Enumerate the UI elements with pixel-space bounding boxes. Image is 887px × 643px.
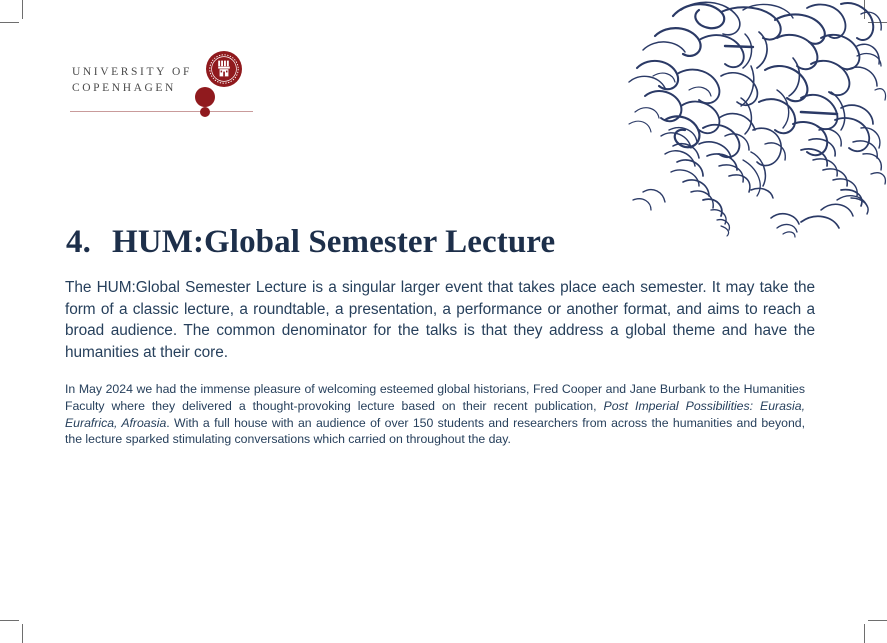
crop-mark-top-left	[0, 0, 70, 70]
university-seal-icon	[205, 50, 243, 88]
logo-accent-dot-large	[195, 87, 215, 107]
section-title-text: HUM:Global Semester Lecture	[112, 224, 555, 260]
page-title: 4.HUM:Global Semester Lecture	[66, 222, 555, 262]
lead-paragraph: The HUM:Global Semester Lecture is a sin…	[65, 277, 815, 363]
logo-wordmark-line1: UNIVERSITY OF	[72, 66, 192, 78]
crop-mark-horizontal-line	[0, 22, 19, 23]
section-number: 4.	[66, 222, 112, 262]
logo-accent-dot-small	[200, 107, 210, 117]
crop-mark-vertical-line	[864, 624, 865, 643]
body-paragraph-part2: . With a full house with an audience of …	[65, 416, 805, 447]
crop-mark-bottom-left	[0, 573, 70, 643]
crop-mark-horizontal-line	[0, 620, 19, 621]
crop-mark-horizontal-line	[868, 620, 887, 621]
logo-divider-rule	[70, 111, 253, 112]
university-logo: UNIVERSITY OF COPENHAGEN	[67, 50, 257, 122]
crop-mark-bottom-right	[817, 573, 887, 643]
crop-mark-vertical-line	[864, 0, 865, 19]
crop-mark-horizontal-line	[868, 22, 887, 23]
logo-wordmark: UNIVERSITY OF COPENHAGEN	[72, 64, 192, 96]
logo-wordmark-line2: COPENHAGEN	[72, 80, 192, 96]
crop-mark-vertical-line	[22, 624, 23, 643]
crop-mark-top-right	[817, 0, 887, 70]
crop-mark-vertical-line	[22, 0, 23, 19]
body-paragraph: In May 2024 we had the immense pleasure …	[65, 381, 805, 448]
